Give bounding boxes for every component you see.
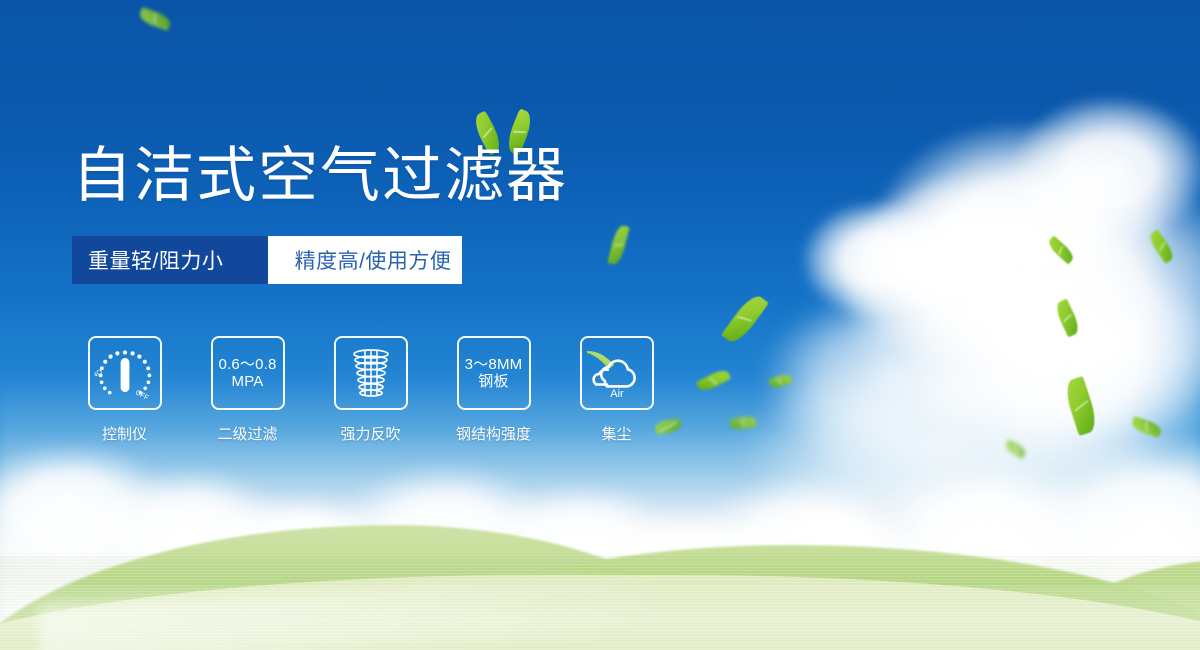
- tagline-left-segment: 重量轻/阻力小: [72, 236, 268, 284]
- feature-item-controller[interactable]: NO OFF 控制仪: [72, 336, 177, 444]
- gauge-label-off: OFF: [133, 389, 149, 402]
- feature-item-steel-strength[interactable]: 3〜8MM 钢板 钢结构强度: [441, 336, 546, 444]
- pressure-value-line1: 0.6〜0.8: [218, 356, 276, 373]
- tagline-left-text: 重量轻/阻力小: [88, 245, 223, 275]
- tagline-bar: 重量轻/阻力小 精度高/使用方便: [72, 236, 462, 284]
- cloud-air-text: Air: [610, 388, 624, 400]
- feature-icon-box: [334, 336, 408, 410]
- steel-thickness-line1: 3〜8MM: [465, 356, 523, 373]
- feature-icon-box: 0.6〜0.8 MPA: [211, 336, 285, 410]
- tagline-right-segment: 精度高/使用方便: [268, 236, 462, 284]
- steel-thickness-line2: 钢板: [478, 373, 508, 390]
- page-title: 自洁式空气过滤器: [72, 146, 568, 206]
- coil-airflow-icon: [343, 345, 399, 401]
- gauge-dial-icon: NO OFF: [94, 344, 156, 402]
- product-hero-banner: 自洁式空气过滤器 重量轻/阻力小 精度高/使用方便: [0, 0, 1200, 650]
- pressure-value-line2: MPA: [232, 373, 264, 390]
- feature-label: 钢结构强度: [456, 423, 531, 444]
- horizon-mist-band: [0, 520, 1200, 630]
- feature-icon-box: NO OFF: [88, 336, 162, 410]
- feature-label: 二级过滤: [217, 423, 277, 444]
- feature-icon-box: 3〜8MM 钢板: [457, 336, 531, 410]
- feature-item-dust-collection[interactable]: Air 集尘: [564, 336, 669, 444]
- feature-label: 控制仪: [102, 423, 147, 444]
- feature-label: 集尘: [601, 423, 631, 444]
- feature-item-strong-blowback[interactable]: 强力反吹: [318, 336, 423, 444]
- feature-label: 强力反吹: [340, 423, 400, 444]
- cloud-air-icon: Air: [585, 345, 649, 401]
- feature-icon-row: NO OFF 控制仪 0.6〜0.8 MPA 二级过滤: [72, 336, 669, 444]
- tagline-right-text: 精度高/使用方便: [295, 245, 452, 275]
- feature-item-secondary-filter[interactable]: 0.6〜0.8 MPA 二级过滤: [195, 336, 300, 444]
- feature-icon-box: Air: [580, 336, 654, 410]
